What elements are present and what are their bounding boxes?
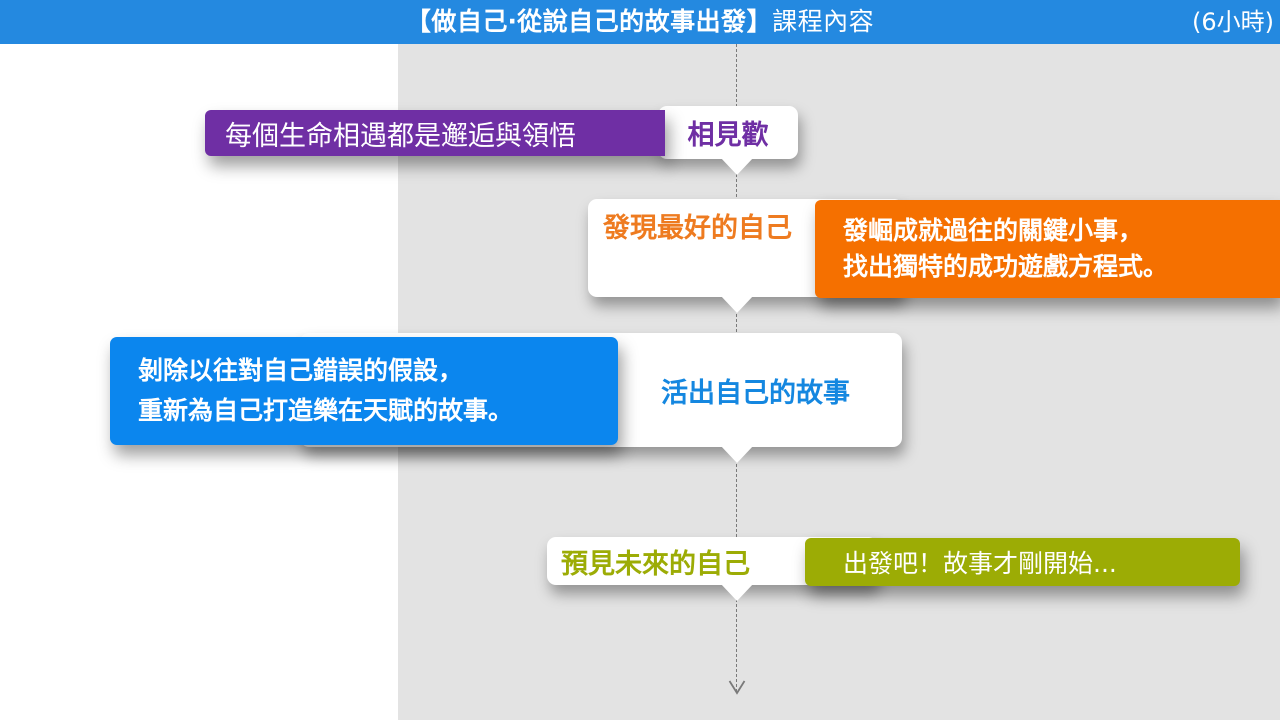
row-2-title-label: 發現最好的自己	[598, 206, 792, 245]
row-1-title-bubble[interactable]: 相見歡	[658, 106, 798, 159]
row-3-description-line-1: 剝除以往對自己錯誤的假設，	[138, 351, 618, 391]
row-1-description-slab: 每個生命相遇都是邂逅與領悟	[205, 110, 665, 156]
row-4-bubble-tail	[720, 583, 754, 601]
page-title-suffix: 課程內容	[772, 7, 874, 36]
row-2-description-line-2: 找出獨特的成功遊戲方程式。	[843, 249, 1280, 285]
row-2-description-line-1: 發崛成就過往的關鍵小事，	[843, 213, 1280, 249]
course-content-slide: 【做自己‧從說自己的故事出發】課程內容 (6小時) 每個生命相遇都是邂逅與領悟 …	[0, 0, 1280, 720]
row-3-description-line-2: 重新為自己打造樂在天賦的故事。	[138, 391, 618, 431]
row-3-bubble-tail	[720, 445, 754, 463]
row-2-bubble-tail	[720, 295, 754, 313]
row-4-description-line-1: 出發吧！故事才剛開始...	[843, 544, 1240, 580]
row-3-title-label: 活出自己的故事	[661, 371, 850, 410]
header-bar: 【做自己‧從說自己的故事出發】課程內容 (6小時)	[0, 0, 1280, 44]
row-1-description-line-1: 每個生命相遇都是邂逅與領悟	[205, 114, 665, 153]
page-title-bracketed: 【做自己‧從說自己的故事出發】	[406, 7, 772, 36]
page-title: 【做自己‧從說自己的故事出發】課程內容	[0, 0, 1280, 44]
row-4-description-slab: 出發吧！故事才剛開始...	[805, 538, 1240, 586]
row-4-title-label: 預見未來的自己	[561, 542, 750, 581]
row-1-bubble-tail	[720, 157, 754, 175]
course-duration-label: (6小時)	[1192, 0, 1274, 44]
row-2-description-slab: 發崛成就過往的關鍵小事， 找出獨特的成功遊戲方程式。	[815, 200, 1280, 298]
row-1-title-label: 相見歡	[688, 113, 769, 152]
flow-arrow-icon	[728, 680, 746, 698]
row-3-description-slab: 剝除以往對自己錯誤的假設， 重新為自己打造樂在天賦的故事。	[110, 337, 618, 445]
